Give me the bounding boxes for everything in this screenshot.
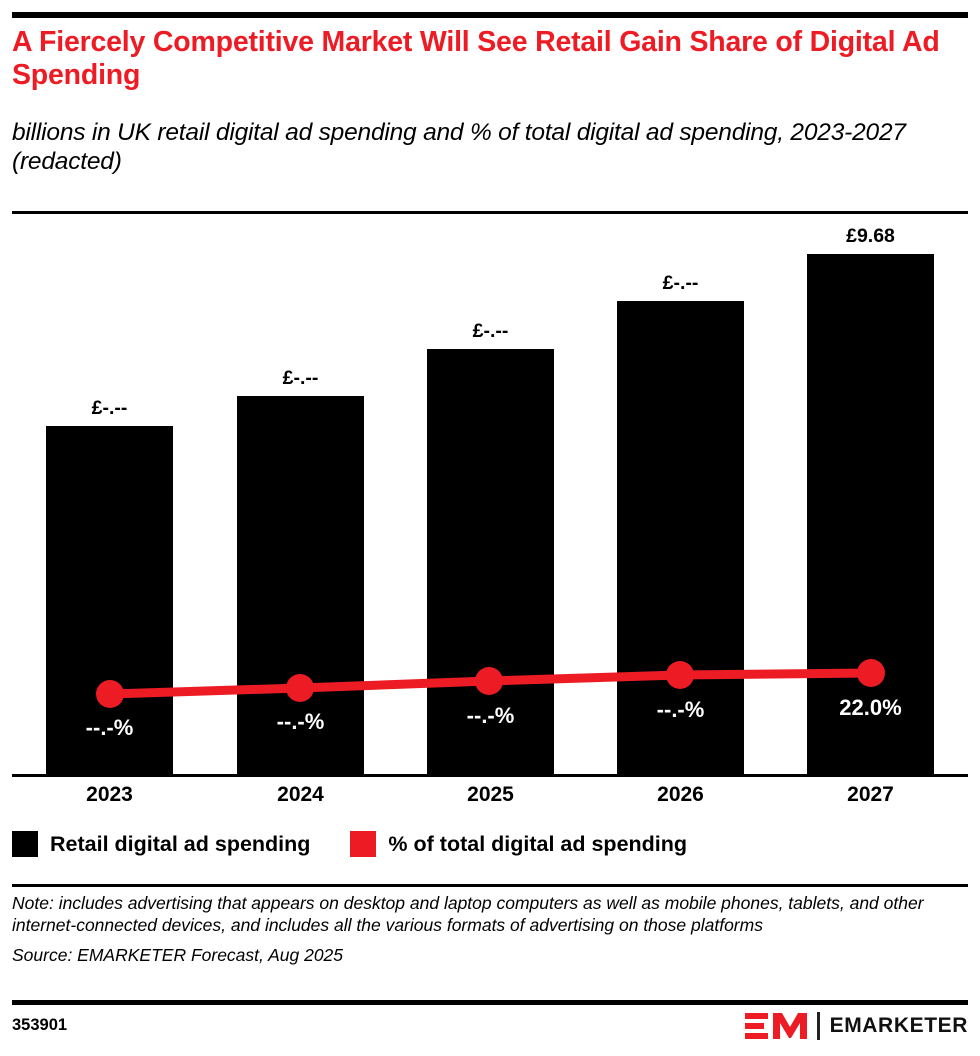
percent-marker-2024 (286, 674, 314, 702)
x-tick-2023: 2023 (46, 783, 173, 807)
x-tick-2027: 2027 (807, 783, 934, 807)
chart-id: 353901 (12, 1016, 67, 1035)
plot-area: £-.-- £-.-- £-.-- £-.-- £9.68 --.-% --.-… (0, 214, 980, 774)
brand-divider (817, 1012, 820, 1040)
chart-page: A Fiercely Competitive Market Will See R… (0, 0, 980, 1056)
x-tick-2025: 2025 (427, 783, 554, 807)
percent-label-2027: 22.0% (807, 695, 934, 721)
percent-marker-2026 (666, 661, 694, 689)
brand-name: EMARKETER (830, 1014, 968, 1038)
chart-note: Note: includes advertising that appears … (12, 892, 960, 937)
legend-item-retail-spending: Retail digital ad spending (12, 831, 310, 857)
page-subtitle: billions in UK retail digital ad spendin… (12, 118, 962, 177)
legend-label-percent-share: % of total digital ad spending (388, 832, 687, 857)
bottom-divider (12, 1000, 968, 1005)
x-tick-2026: 2026 (617, 783, 744, 807)
x-axis-line (12, 774, 968, 777)
percent-label-2023: --.-% (46, 715, 173, 741)
percent-label-2026: --.-% (617, 697, 744, 723)
top-divider (12, 12, 968, 18)
legend-item-percent-share: % of total digital ad spending (350, 831, 687, 857)
emarketer-logo-icon (745, 1012, 807, 1040)
legend-swatch-black-icon (12, 831, 38, 857)
page-title: A Fiercely Competitive Market Will See R… (12, 26, 962, 92)
chart-legend: Retail digital ad spending % of total di… (12, 828, 687, 860)
footer-divider (12, 884, 968, 887)
percent-marker-2023 (96, 680, 124, 708)
x-tick-2024: 2024 (237, 783, 364, 807)
chart-source: Source: EMARKETER Forecast, Aug 2025 (12, 944, 960, 966)
percent-line-series (0, 214, 980, 774)
legend-swatch-red-icon (350, 831, 376, 857)
percent-marker-2025 (475, 667, 503, 695)
legend-label-retail-spending: Retail digital ad spending (50, 832, 310, 857)
percent-marker-2027 (857, 659, 885, 687)
emarketer-brand: EMARKETER (745, 1011, 968, 1041)
percent-label-2024: --.-% (237, 709, 364, 735)
percent-label-2025: --.-% (427, 703, 554, 729)
